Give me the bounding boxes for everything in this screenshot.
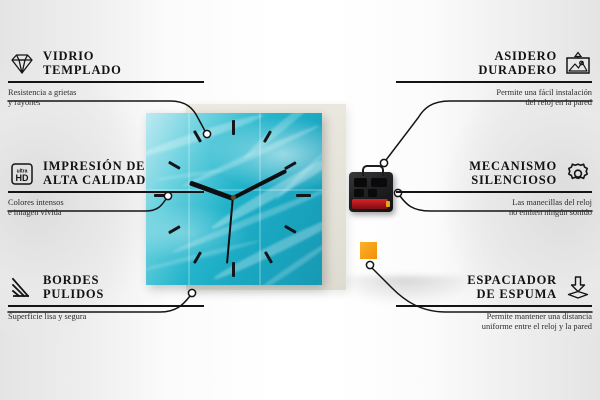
feature-heading: BORDES PULIDOS [8,274,204,301]
feature-description: Las manecillas del reloj no emiten ningú… [396,198,592,219]
clock-mechanism [349,172,393,212]
divider [396,305,592,307]
divider [396,81,592,83]
feature-title: ASIDERO DURADERO [478,50,557,77]
ultra-hd-badge-icon: ultra HD [8,161,36,187]
mechanism-detail [371,178,387,187]
divider [8,305,204,307]
feature-title: MECANISMO SILENCIOSO [469,160,557,187]
hanging-frame-icon [564,51,592,77]
gear-icon [564,161,592,187]
feature-heading: ASIDERO DURADERO [396,50,592,77]
feature-description: Resistencia a grietas y rayones [8,88,204,109]
infographic-canvas: VIDRIO TEMPLADO Resistencia a grietas y … [0,0,600,400]
clock-hub [231,195,236,200]
divider [396,191,592,193]
polished-edges-icon [8,275,36,301]
feature-description: Colores intensos e imagen vívida [8,198,204,219]
feature-heading: MECANISMO SILENCIOSO [396,160,592,187]
mechanism-detail [354,178,367,187]
feature-asidero-duradero: ASIDERO DURADERO Permite una fácil insta… [396,50,592,109]
connector-dot-espaciador [366,261,373,268]
feature-description: Superficie lisa y segura [8,312,204,323]
divider [8,191,204,193]
diamond-icon [8,51,36,77]
feature-impresion-alta-calidad: ultra HD IMPRESIÓN DE ALTA CALIDAD Color… [8,160,204,219]
feature-heading: VIDRIO TEMPLADO [8,50,204,77]
foam-spacer-arrow-icon [564,275,592,301]
feature-bordes-pulidos: BORDES PULIDOS Superficie lisa y segura [8,274,204,322]
feature-title: ESPACIADOR DE ESPUMA [467,274,557,301]
svg-text:HD: HD [16,173,29,183]
feature-heading: ESPACIADOR DE ESPUMA [396,274,592,301]
clock-tick-3 [296,194,311,197]
feature-espaciador-de-espuma: ESPACIADOR DE ESPUMA Permite mantener un… [396,274,592,333]
divider [8,81,204,83]
mechanism-hanger-icon [362,165,384,176]
feature-title: IMPRESIÓN DE ALTA CALIDAD [43,160,146,187]
clock-tick-12 [232,120,235,135]
feature-description: Permite una fácil instalación del reloj … [396,88,592,109]
mechanism-detail [354,189,364,197]
mechanism-detail [368,189,377,197]
foam-spacer-piece [360,242,377,259]
feature-vidrio-templado: VIDRIO TEMPLADO Resistencia a grietas y … [8,50,204,109]
feature-description: Permite mantener una distancia uniforme … [396,312,592,333]
face-grid-line [259,113,261,285]
feature-heading: ultra HD IMPRESIÓN DE ALTA CALIDAD [8,160,204,187]
clock-tick-6 [232,262,235,277]
feature-title: BORDES PULIDOS [43,274,104,301]
mechanism-battery [352,199,388,209]
feature-mecanismo-silencioso: MECANISMO SILENCIOSO Las manecillas del … [396,160,592,219]
feature-title: VIDRIO TEMPLADO [43,50,122,77]
